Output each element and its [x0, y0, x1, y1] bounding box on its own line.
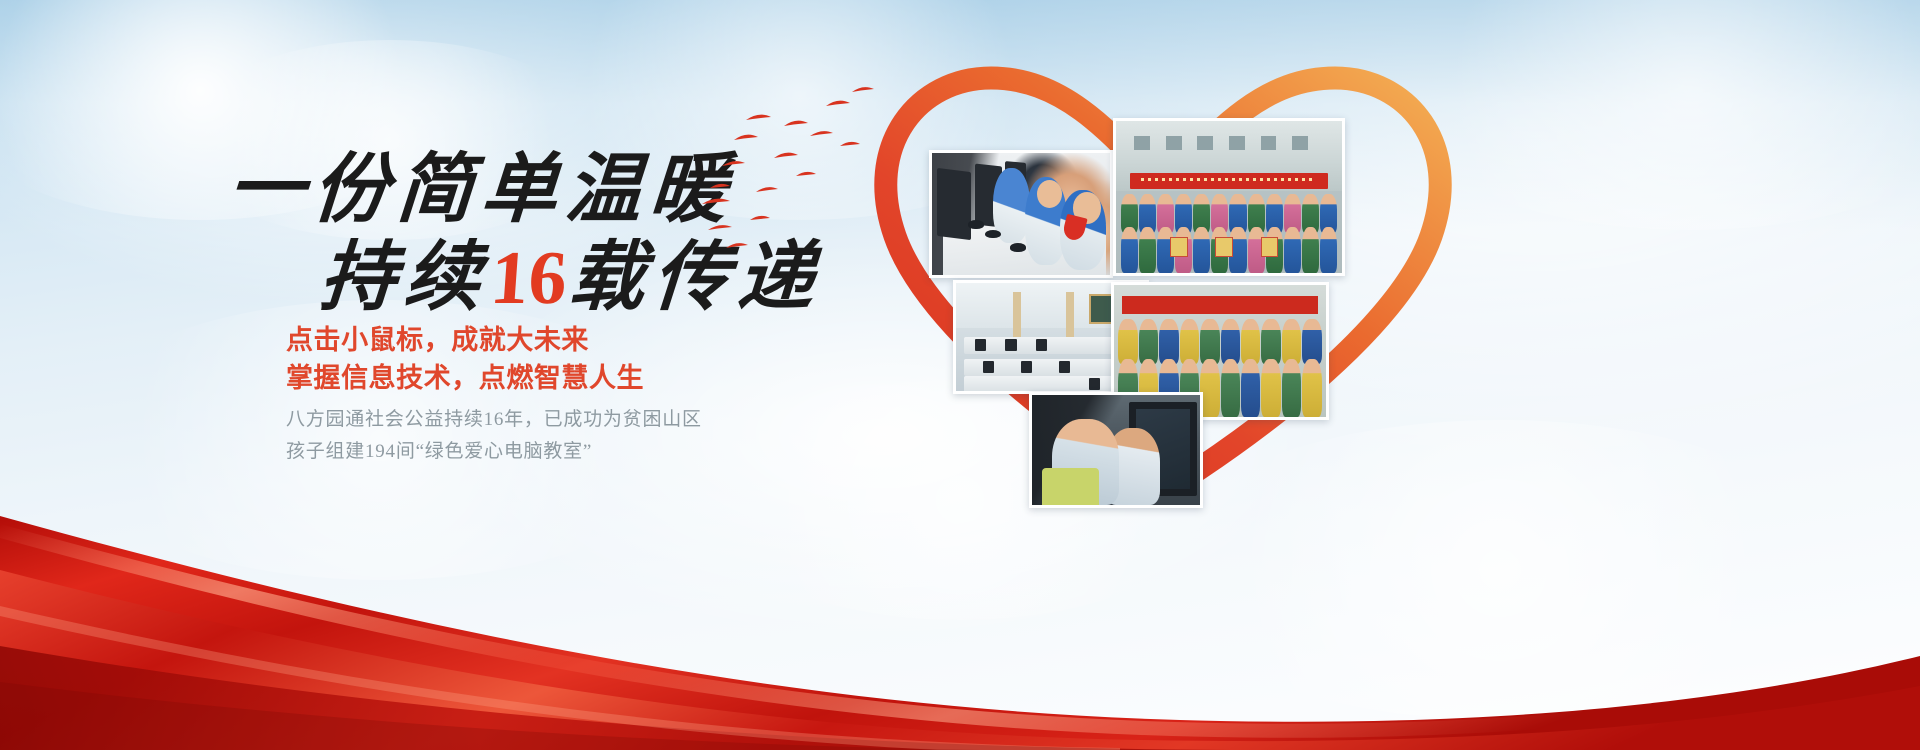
photo-donation-ceremony-group: [1113, 118, 1345, 276]
red-silk-wave: [0, 420, 1920, 750]
photo-computer-lab-students: [929, 150, 1113, 278]
subtitle-region: [286, 320, 686, 404]
headline-region: [228, 150, 748, 320]
charity-banner: 一份简单温暖 持续16载传递 点击小鼠标，成就大未来 掌握信息技术，点燃智慧人生…: [0, 0, 1920, 750]
